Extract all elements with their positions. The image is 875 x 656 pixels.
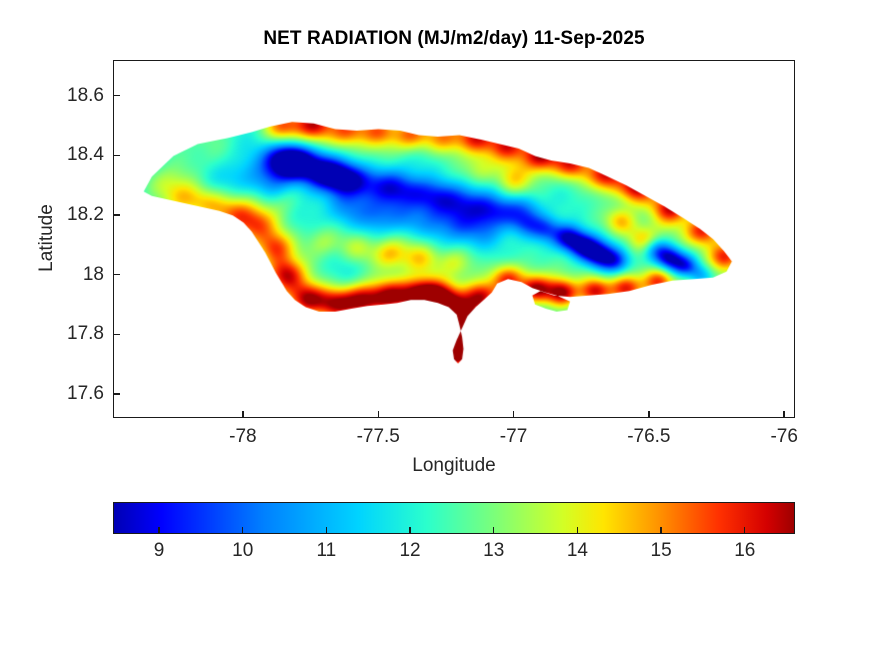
colorbar-tick-label: 13 (483, 540, 504, 562)
y-axis-label: Latitude (36, 173, 58, 303)
colorbar-tickmark (409, 527, 410, 534)
colorbar-tickmark (326, 527, 327, 534)
x-tickmark (648, 411, 649, 418)
x-tick-label: -77.5 (357, 426, 400, 448)
colorbar-tickmark (660, 527, 661, 534)
y-tickmark (113, 95, 120, 96)
colorbar-tickmark (158, 527, 159, 534)
y-tick-label: 17.6 (67, 383, 104, 405)
x-tick-label: -76 (770, 426, 797, 448)
colorbar-tick-label: 16 (734, 540, 755, 562)
x-tick-label: -78 (229, 426, 256, 448)
y-tick-label: 18.4 (67, 144, 104, 166)
x-tickmark (783, 411, 784, 418)
map-axes (113, 60, 795, 418)
net-radiation-heatmap (114, 61, 794, 417)
y-tick-label: 18 (83, 264, 104, 286)
y-tickmark (113, 214, 120, 215)
colorbar-gradient (113, 502, 795, 534)
x-tickmark (513, 411, 514, 418)
page-title: NET RADIATION (MJ/m2/day) 11-Sep-2025 (113, 28, 795, 50)
y-tick-label: 18.2 (67, 204, 104, 226)
colorbar-tick-label: 10 (232, 540, 253, 562)
colorbar-tickmark (493, 527, 494, 534)
colorbar (113, 502, 795, 534)
colorbar-tick-label: 11 (317, 540, 337, 562)
colorbar-tickmark (577, 527, 578, 534)
matlab-figure: NET RADIATION (MJ/m2/day) 11-Sep-2025 La… (0, 0, 875, 656)
y-tick-label: 17.8 (67, 323, 104, 345)
y-tickmark (113, 274, 120, 275)
colorbar-tick-label: 14 (567, 540, 588, 562)
colorbar-tick-label: 15 (651, 540, 672, 562)
colorbar-tickmark (744, 527, 745, 534)
y-tickmark (113, 155, 120, 156)
colorbar-tickmark (242, 527, 243, 534)
colorbar-tick-label: 12 (399, 540, 420, 562)
x-tickmark (378, 411, 379, 418)
x-axis-label: Longitude (412, 455, 495, 477)
y-tick-label: 18.6 (67, 85, 104, 107)
x-tick-label: -76.5 (627, 426, 670, 448)
x-tickmark (242, 411, 243, 418)
colorbar-tick-label: 9 (154, 540, 165, 562)
x-tick-label: -77 (500, 426, 527, 448)
y-tickmark (113, 393, 120, 394)
y-tickmark (113, 334, 120, 335)
